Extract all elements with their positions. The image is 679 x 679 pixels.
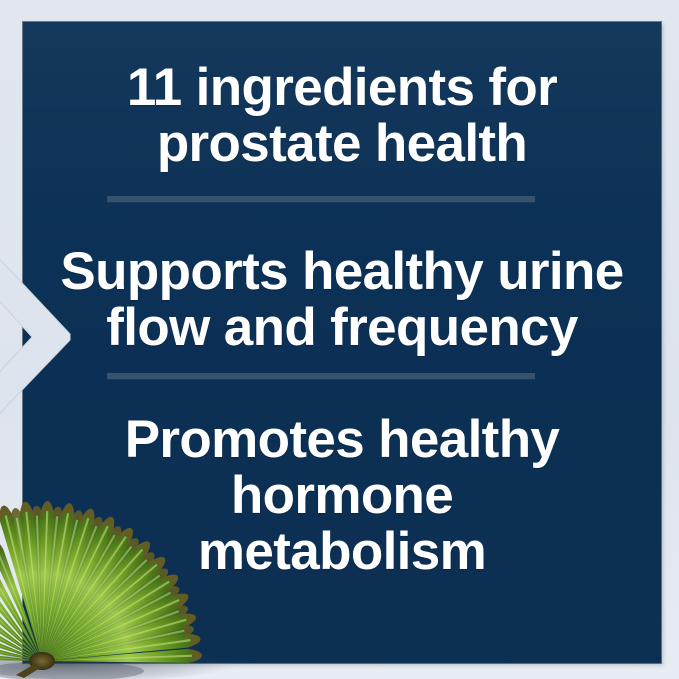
- claims-stack: 11 ingredients for prostate health Suppo…: [23, 22, 661, 663]
- claim-1-line-2: prostate health: [23, 116, 661, 172]
- divider-rule-2: [107, 373, 535, 379]
- claim-2-line-1: Supports healthy urine: [23, 244, 661, 300]
- claim-3-line-3: metabolism: [23, 524, 661, 580]
- divider-rule-1: [107, 196, 535, 202]
- claim-3-line-2: hormone: [23, 468, 661, 524]
- claim-1-line-1: 11 ingredients for: [23, 60, 661, 116]
- claim-block-3: Promotes healthy hormone metabolism: [23, 412, 661, 581]
- product-feature-graphic: 11 ingredients for prostate health Suppo…: [0, 0, 679, 679]
- claim-2-line-2: flow and frequency: [23, 300, 661, 356]
- claim-3-line-1: Promotes healthy: [23, 412, 661, 468]
- claim-block-2: Supports healthy urine flow and frequenc…: [23, 244, 661, 356]
- claim-block-1: 11 ingredients for prostate health: [23, 60, 661, 172]
